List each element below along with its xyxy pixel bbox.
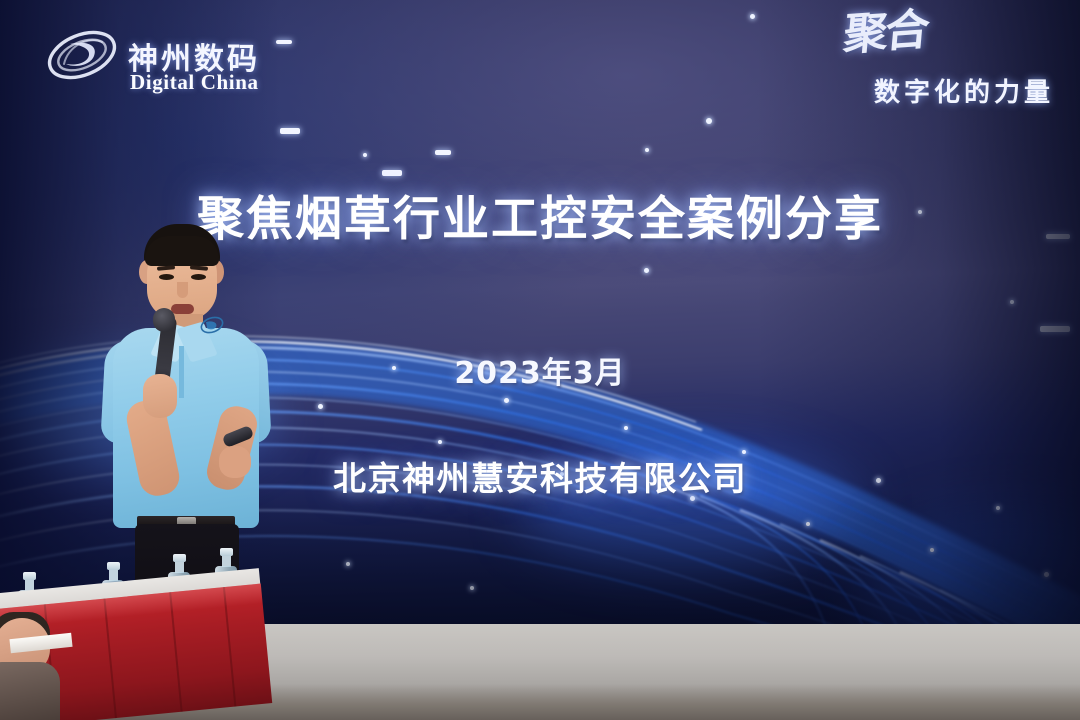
digital-china-swirl-icon [44, 24, 120, 86]
bottle-cap [173, 554, 186, 562]
screen-particle [750, 14, 755, 19]
wave-sparkle [438, 440, 442, 444]
presenter-eye-right [191, 274, 206, 280]
presenter-hand-right [219, 446, 251, 478]
presenter-eye-left [159, 274, 174, 280]
wave-sparkle [1044, 572, 1049, 577]
wave-sparkle [504, 398, 509, 403]
presenter-nose [177, 282, 188, 298]
presenter-hand-left [143, 374, 177, 418]
bottle-cap [220, 548, 233, 556]
screen-light-streak [382, 170, 402, 176]
wave-sparkle [318, 404, 323, 409]
shirt-logo-icon [199, 312, 225, 338]
screen-particle [1010, 300, 1014, 304]
screen-particle [644, 268, 649, 273]
conference-photo: 神州数码 Digital China 聚合 数字化的力量 聚焦烟草行业工控安全案… [0, 0, 1080, 720]
presenter-shirt-placket [179, 346, 184, 398]
presenter [95, 224, 285, 624]
wave-sparkle [996, 506, 1000, 510]
wave-sparkle [346, 562, 350, 566]
screen-particle [363, 153, 367, 157]
presenter-hairline [145, 236, 219, 266]
bottle-cap [23, 572, 36, 580]
event-theme-logo: 聚合 数字化的力量 [810, 12, 1060, 110]
screen-particle [706, 118, 712, 124]
screen-light-streak [435, 150, 451, 155]
screen-light-streak [1040, 326, 1070, 332]
wave-sparkle [806, 522, 810, 526]
wave-sparkle [930, 548, 934, 552]
theme-subtitle: 数字化的力量 [874, 72, 1054, 109]
audience-member-body [0, 662, 60, 720]
microphone-head-icon [153, 308, 175, 332]
theme-calligraphy: 聚合 [842, 9, 928, 56]
presenter-mouth [171, 304, 194, 314]
bottle-cap [107, 562, 120, 570]
wave-sparkle [470, 586, 474, 590]
screen-particle [645, 148, 649, 152]
wave-sparkle [624, 426, 628, 430]
digital-china-logo: 神州数码 Digital China [44, 20, 294, 96]
brand-name-en: Digital China [130, 70, 259, 95]
screen-light-streak [280, 128, 300, 134]
